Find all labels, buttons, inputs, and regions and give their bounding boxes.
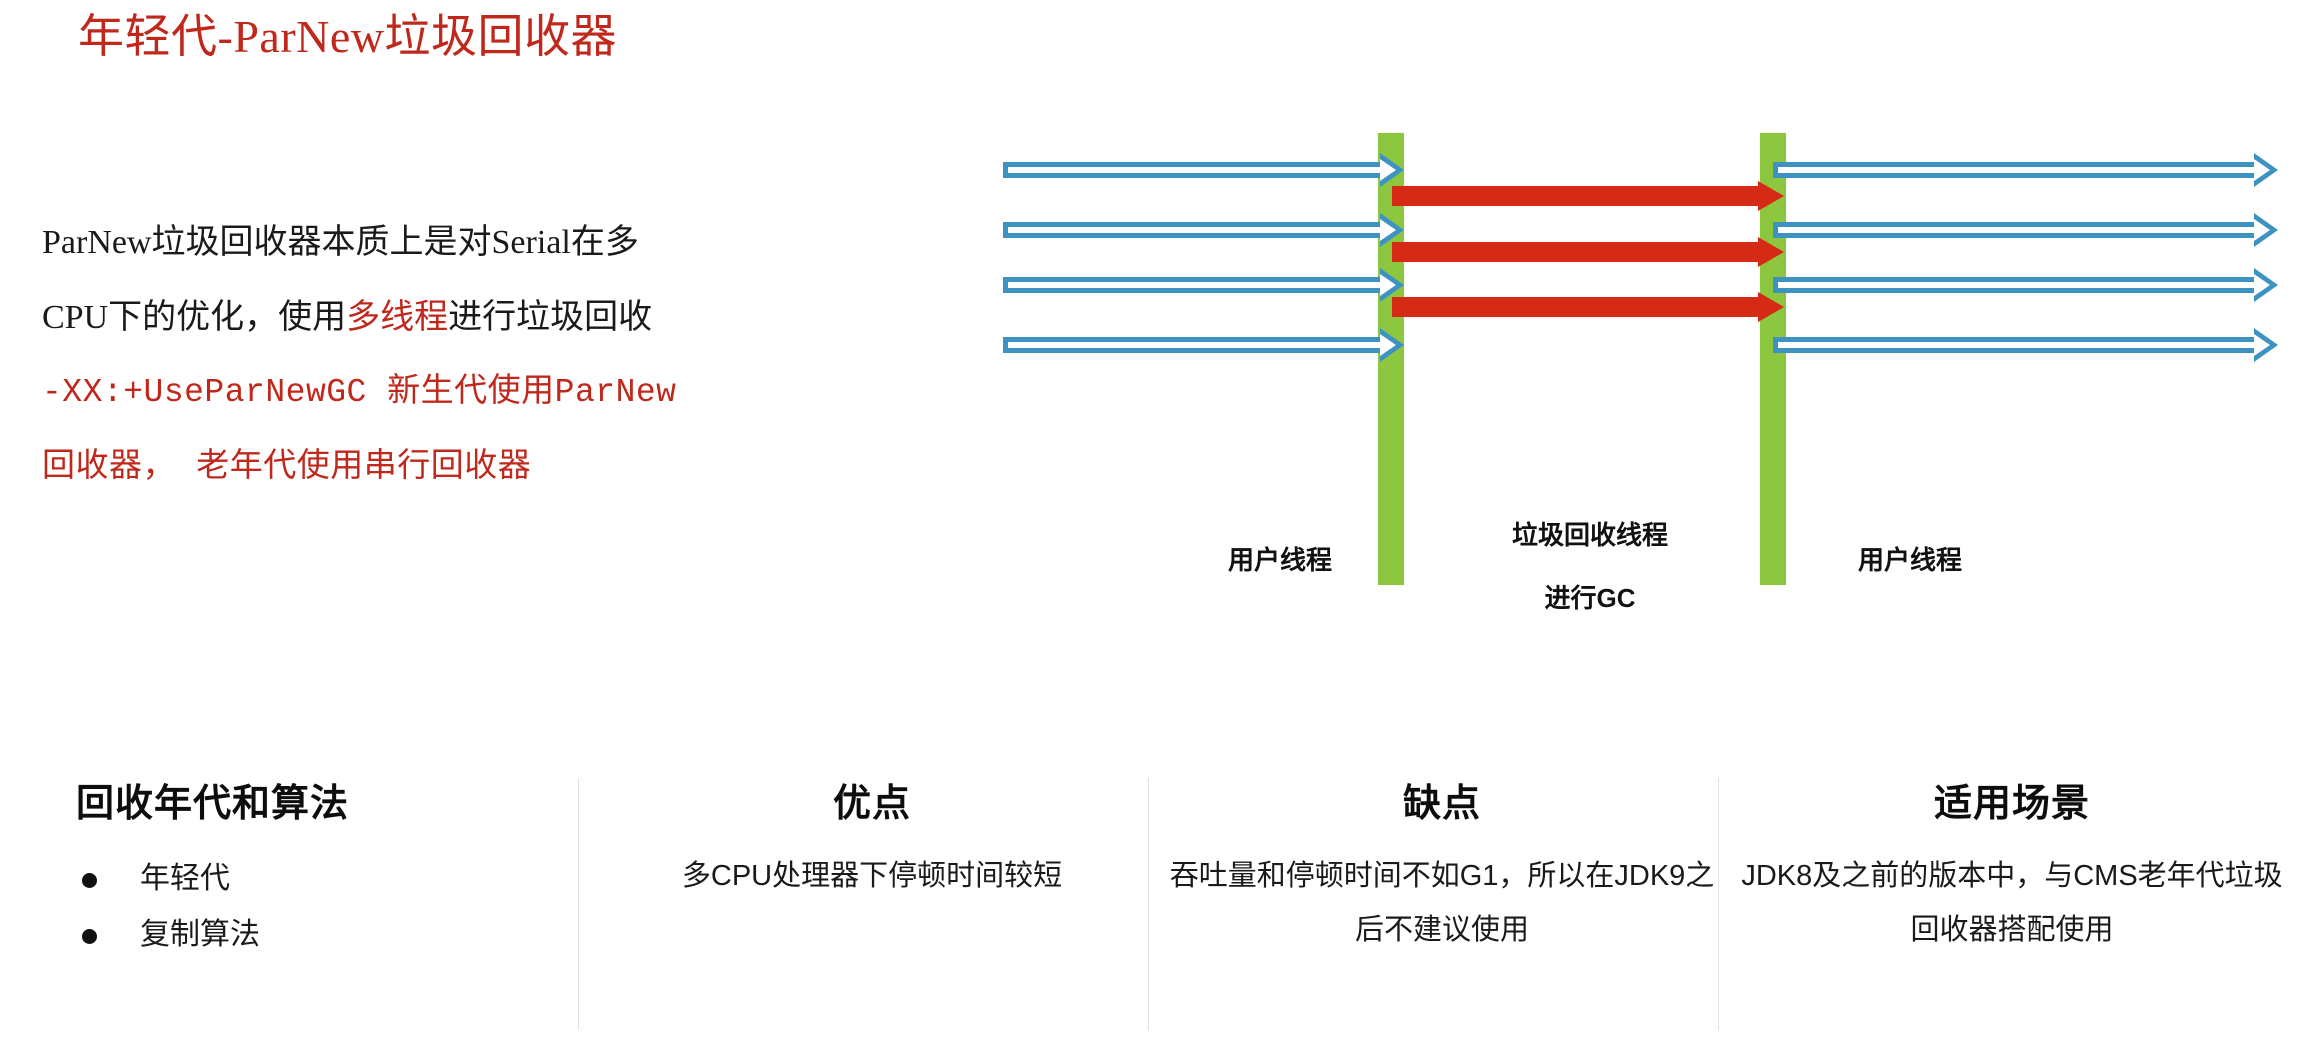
user-thread-arrow-right-1 xyxy=(1778,153,2278,187)
diagram-label-gc-thread-line1: 垃圾回收线程 xyxy=(1512,520,1668,550)
gc-thread-arrow-3 xyxy=(1392,292,1784,322)
column-body: 多CPU处理器下停顿时间较短 xyxy=(592,849,1152,903)
arrow-head-inner xyxy=(2254,219,2270,241)
arrow-head-inner xyxy=(2254,334,2270,356)
description-line-1-text: ParNew垃圾回收器本质上是对Serial在多 xyxy=(42,224,639,261)
column-divider-1 xyxy=(578,778,579,1030)
arrow-shaft xyxy=(1008,277,1380,293)
jvm-flag-line-1: -XX:+UseParNewGC 新生代使用ParNew xyxy=(42,355,862,430)
description-text-block: ParNew垃圾回收器本质上是对Serial在多 CPU下的优化，使用多线程进行… xyxy=(42,205,862,505)
user-thread-arrow-right-3 xyxy=(1778,268,2278,302)
gc-thread-diagram: 用户线程 垃圾回收线程 进行GC 用户线程 xyxy=(960,100,2280,620)
arrow-shaft xyxy=(1392,297,1758,317)
column-body: JDK8及之前的版本中，与CMS老年代垃圾回收器搭配使用 xyxy=(1732,849,2292,957)
list-item-label: 复制算法 xyxy=(140,918,260,951)
diagram-label-gc-thread-line2: 进行GC xyxy=(1430,578,1750,615)
user-thread-arrow-left-3 xyxy=(1008,268,1404,302)
arrow-head-inner xyxy=(2254,274,2270,296)
column-divider-3 xyxy=(1718,778,1719,1030)
diagram-label-gc-thread: 垃圾回收线程 进行GC xyxy=(1430,515,1750,615)
arrow-head-inner xyxy=(2254,159,2270,181)
arrow-shaft xyxy=(1392,242,1758,262)
arrow-shaft xyxy=(1008,222,1380,238)
arrow-shaft xyxy=(1778,277,2254,293)
arrow-shaft xyxy=(1008,162,1380,178)
gc-thread-arrow-2 xyxy=(1392,237,1784,267)
diagram-label-user-thread-left: 用户线程 xyxy=(1180,540,1380,577)
description-highlight-multithread: 多线程 xyxy=(346,299,448,336)
column-divider-2 xyxy=(1148,778,1149,1030)
user-thread-arrow-left-2 xyxy=(1008,213,1404,247)
arrow-head-inner xyxy=(1380,159,1396,181)
summary-columns: 回收年代和算法 年轻代 复制算法 优点 多CPU处理器下停顿时间较短 缺点 吞吐… xyxy=(0,772,2312,1034)
arrow-shaft xyxy=(1778,337,2254,353)
column-bullet-list: 年轻代 复制算法 xyxy=(60,851,560,963)
description-line-2-suffix: 进行垃圾回收 xyxy=(448,299,652,336)
list-item-label: 年轻代 xyxy=(140,862,230,895)
list-item: 复制算法 xyxy=(78,907,560,963)
summary-column-use-cases: 适用场景 JDK8及之前的版本中，与CMS老年代垃圾回收器搭配使用 xyxy=(1732,772,2292,1034)
column-body: 吞吐量和停顿时间不如G1，所以在JDK9之后不建议使用 xyxy=(1162,849,1722,957)
page-title: 年轻代-ParNew垃圾回收器 xyxy=(78,8,617,66)
gc-thread-arrow-1 xyxy=(1392,181,1784,211)
arrow-shaft xyxy=(1008,337,1380,353)
user-thread-arrow-right-4 xyxy=(1778,328,2278,362)
arrow-shaft xyxy=(1778,162,2254,178)
column-title: 优点 xyxy=(592,772,1152,827)
user-thread-arrow-left-1 xyxy=(1008,153,1404,187)
arrow-shaft xyxy=(1392,186,1758,206)
description-line-2-prefix: CPU下的优化，使用 xyxy=(42,299,346,336)
column-title: 回收年代和算法 xyxy=(76,772,560,827)
diagram-label-user-thread-right: 用户线程 xyxy=(1800,540,2020,577)
list-item: 年轻代 xyxy=(78,851,560,907)
user-thread-arrow-left-4 xyxy=(1008,328,1404,362)
user-thread-arrow-right-2 xyxy=(1778,213,2278,247)
summary-column-disadvantages: 缺点 吞吐量和停顿时间不如G1，所以在JDK9之后不建议使用 xyxy=(1162,772,1722,1034)
bullet-dot-icon xyxy=(82,873,97,888)
arrow-shaft xyxy=(1778,222,2254,238)
bullet-dot-icon xyxy=(82,929,97,944)
column-title: 适用场景 xyxy=(1732,772,2292,827)
column-title: 缺点 xyxy=(1162,772,1722,827)
description-line-2: CPU下的优化，使用多线程进行垃圾回收 xyxy=(42,280,862,355)
jvm-flag-line-2: 回收器， 老年代使用串行回收器 xyxy=(42,430,862,505)
summary-column-generation-algorithm: 回收年代和算法 年轻代 复制算法 xyxy=(60,772,560,1034)
summary-column-advantages: 优点 多CPU处理器下停顿时间较短 xyxy=(592,772,1152,1034)
description-line-1: ParNew垃圾回收器本质上是对Serial在多 xyxy=(42,205,862,280)
arrow-head-inner xyxy=(1380,334,1396,356)
